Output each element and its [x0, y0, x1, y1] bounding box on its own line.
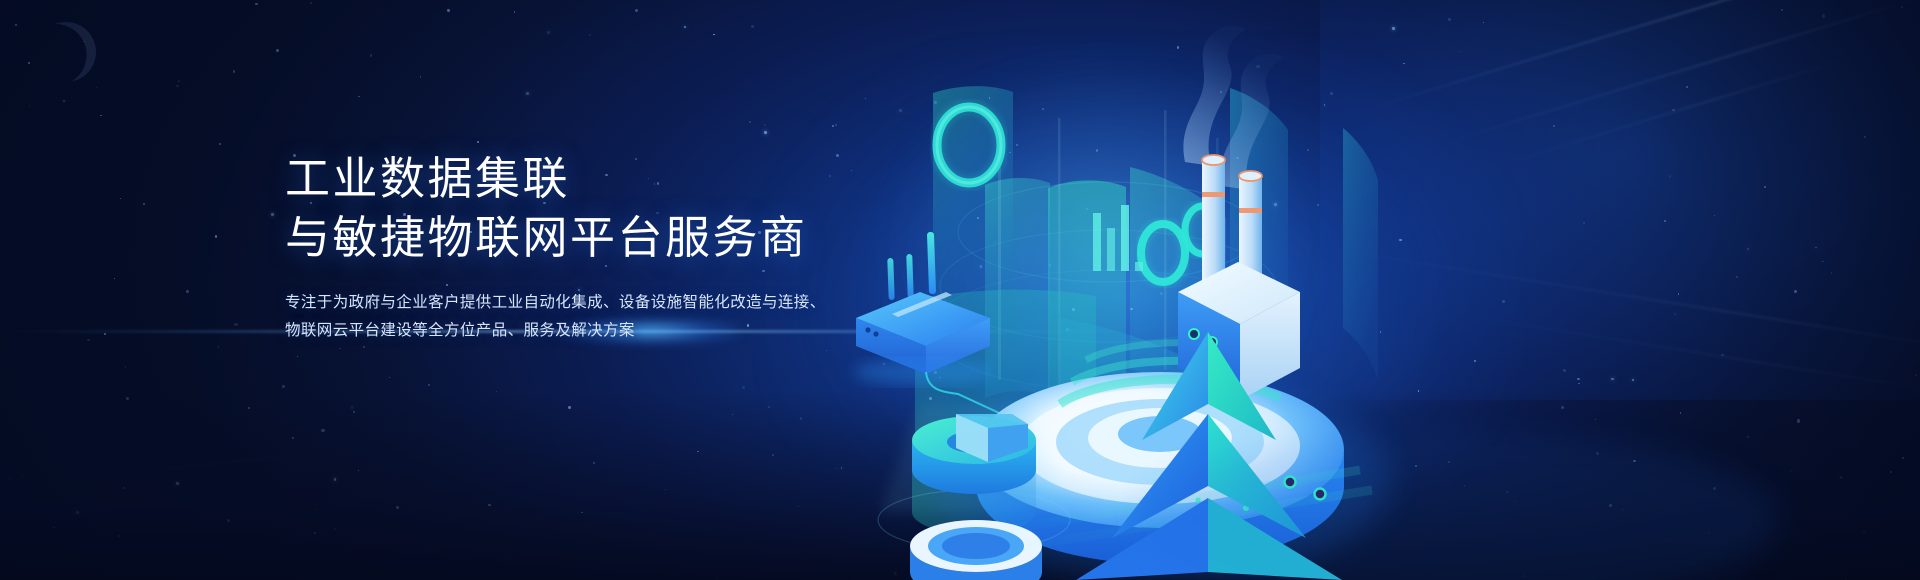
stack-band — [1202, 192, 1225, 197]
hero-illustration — [760, 0, 1920, 580]
hero-headline-line-1: 工业数据集联 — [285, 150, 925, 209]
factory-port-led — [1189, 329, 1199, 339]
panel-mullion — [1164, 110, 1167, 370]
hero-copy-block: 工业数据集联 与敏捷物联网平台服务商 专注于为政府与企业客户提供工业自动化集成、… — [285, 150, 925, 345]
node-core — [942, 533, 1010, 559]
stack-band — [1239, 208, 1262, 213]
glass-panel — [1343, 128, 1378, 380]
hero-subtitle-line-2: 物联网云平台建设等全方位产品、服务及解决方案 — [285, 317, 925, 345]
hero-banner: 工业数据集联 与敏捷物联网平台服务商 专注于为政府与企业客户提供工业自动化集成、… — [0, 0, 1920, 580]
smokestack-left — [1202, 155, 1225, 282]
router-underglow — [853, 359, 993, 385]
hero-headline-line-2: 与敏捷物联网平台服务商 — [285, 209, 925, 268]
hero-subtitle: 专注于为政府与企业客户提供工业自动化集成、设备设施智能化改造与连接、 物联网云平… — [285, 289, 925, 345]
hero-subtitle-line-1: 专注于为政府与企业客户提供工业自动化集成、设备设施智能化改造与连接、 — [285, 289, 925, 317]
